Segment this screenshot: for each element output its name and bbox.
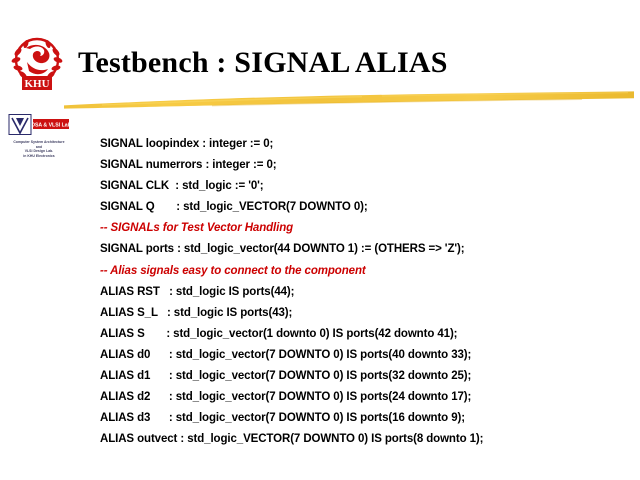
- code-block: SIGNAL loopindex : integer := 0; SIGNAL …: [100, 134, 630, 450]
- code-comment-line: -- SIGNALs for Test Vector Handling: [100, 218, 630, 239]
- code-comment-line: -- Alias signals easy to connect to the …: [100, 261, 630, 282]
- code-line: ALIAS d0 : std_logic_vector(7 DOWNTO 0) …: [100, 345, 630, 366]
- code-line: SIGNAL ports : std_logic_vector(44 DOWNT…: [100, 239, 630, 260]
- khu-emblem-icon: KHU: [10, 36, 64, 92]
- code-line: SIGNAL CLK : std_logic := '0';: [100, 176, 630, 197]
- code-line: SIGNAL Q : std_logic_VECTOR(7 DOWNTO 0);: [100, 197, 630, 218]
- lab-caption-line: in KHU Electronics: [7, 154, 71, 159]
- title-block: Testbench : SIGNAL ALIAS: [78, 45, 640, 81]
- vlsi-lab-badge-icon: DSA & VLSI Lab: [7, 113, 71, 139]
- khu-emblem-text: KHU: [24, 78, 49, 90]
- code-line: ALIAS d1 : std_logic_vector(7 DOWNTO 0) …: [100, 366, 630, 387]
- lab-caption-line: Computer System Architecture: [7, 140, 71, 145]
- title-underline-brushstroke: [62, 88, 636, 112]
- lab-caption: Computer System Architecture and VLSI De…: [7, 140, 71, 158]
- code-line: ALIAS S_L : std_logic IS ports(43);: [100, 303, 630, 324]
- code-line: ALIAS d2 : std_logic_vector(7 DOWNTO 0) …: [100, 387, 630, 408]
- code-line: ALIAS outvect : std_logic_VECTOR(7 DOWNT…: [100, 429, 630, 450]
- slide-canvas: KHU DSA & VLSI Lab Computer System Archi…: [0, 0, 640, 480]
- code-line: SIGNAL loopindex : integer := 0;: [100, 134, 630, 155]
- code-line: SIGNAL numerrors : integer := 0;: [100, 155, 630, 176]
- code-line: ALIAS S : std_logic_vector(1 downto 0) I…: [100, 324, 630, 345]
- code-line: ALIAS d3 : std_logic_vector(7 DOWNTO 0) …: [100, 408, 630, 429]
- page-title: Testbench : SIGNAL ALIAS: [78, 45, 640, 81]
- code-line: ALIAS RST : std_logic IS ports(44);: [100, 282, 630, 303]
- vlsi-lab-badge-text: DSA & VLSI Lab: [31, 123, 71, 129]
